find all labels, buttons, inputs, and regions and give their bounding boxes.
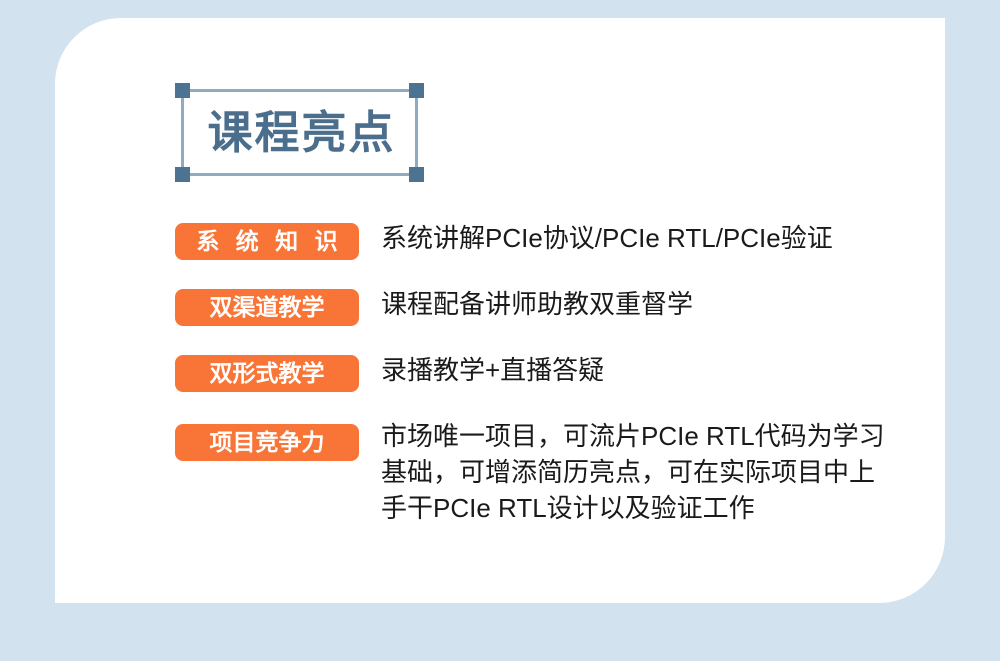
feature-row: 双渠道教学 课程配备讲师助教双重督学 [175,289,935,326]
feature-description-project-competitiveness: 市场唯一项目，可流片PCIe RTL代码为学习 基础，可增添简历亮点，可在实际项… [381,418,935,526]
feature-description-system-knowledge: 系统讲解PCIe协议/PCIe RTL/PCIe验证 [381,220,935,256]
poster-root: 课程亮点 系 统 知 识 系统讲解PCIe协议/PCIe RTL/PCIe验证 … [0,0,1000,661]
feature-description-dual-format-teaching: 录播教学+直播答疑 [381,352,935,388]
feature-row: 双形式教学 录播教学+直播答疑 [175,355,935,392]
feature-list: 系 统 知 识 系统讲解PCIe协议/PCIe RTL/PCIe验证 双渠道教学… [175,223,935,526]
title-frame: 课程亮点 [175,83,424,182]
feature-badge-dual-channel-teaching: 双渠道教学 [175,289,359,326]
feature-badge-project-competitiveness: 项目竞争力 [175,424,359,461]
feature-badge-dual-format-teaching: 双形式教学 [175,355,359,392]
feature-badge-system-knowledge: 系 统 知 识 [175,223,359,260]
feature-row: 系 统 知 识 系统讲解PCIe协议/PCIe RTL/PCIe验证 [175,223,935,260]
page-title: 课程亮点 [175,83,424,182]
content-card: 课程亮点 系 统 知 识 系统讲解PCIe协议/PCIe RTL/PCIe验证 … [55,18,945,603]
feature-row: 项目竞争力 市场唯一项目，可流片PCIe RTL代码为学习 基础，可增添简历亮点… [175,421,935,526]
feature-description-dual-channel-teaching: 课程配备讲师助教双重督学 [381,286,935,322]
